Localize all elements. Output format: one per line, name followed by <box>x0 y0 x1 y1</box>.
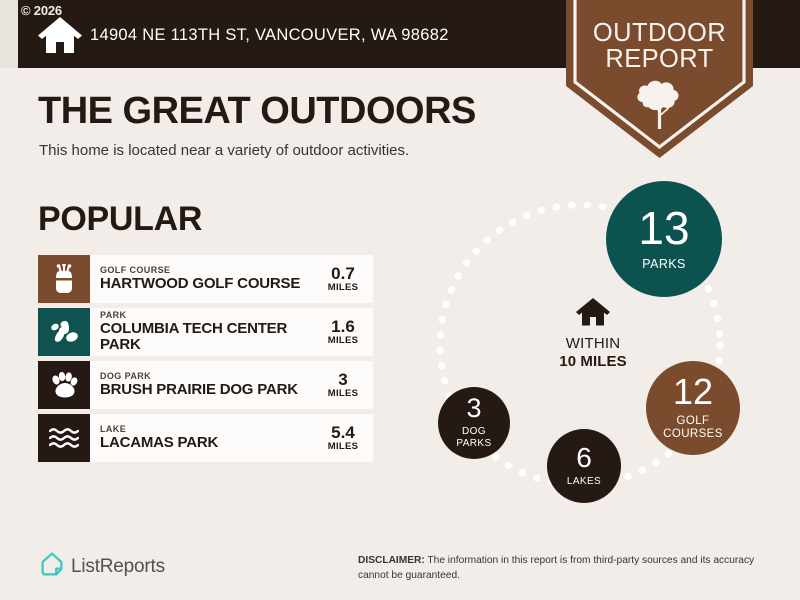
listreports-house-icon <box>40 551 64 582</box>
list-item-category: GOLF COURSE <box>100 266 321 275</box>
distance-value: 1.6 <box>321 318 365 335</box>
parks-label: PARKS <box>642 258 685 271</box>
house-icon <box>38 17 82 55</box>
house-icon <box>528 298 658 332</box>
list-item-distance: 0.7 MILES <box>321 265 373 293</box>
center-line-2: 10 MILES <box>528 353 658 370</box>
list-item-body: PARK COLUMBIA TECH CENTER PARK 1.6 MILES <box>90 308 373 356</box>
list-item-text: DOG PARK BRUSH PRAIRIE DOG PARK <box>100 372 321 398</box>
list-item-text: GOLF COURSE HARTWOOD GOLF COURSE <box>100 266 321 292</box>
outdoor-report-page: © 2026 14904 NE 113TH ST, VANCOUVER, WA … <box>0 0 800 600</box>
list-item-body: LAKE LACAMAS PARK 5.4 MILES <box>90 414 373 462</box>
within-10-miles-diagram: 13 PARKS 12 GOLF COURSES 3 DOG PARKS 6 L… <box>410 165 800 515</box>
list-item-category: DOG PARK <box>100 372 321 381</box>
badge-line-2: REPORT <box>605 45 713 73</box>
center-line-1: WITHIN <box>528 335 658 352</box>
golf-label-line-2: COURSES <box>663 428 723 440</box>
distance-value: 5.4 <box>321 424 365 441</box>
parks-count: 13 <box>638 205 689 251</box>
list-item[interactable]: GOLF COURSE HARTWOOD GOLF COURSE 0.7 MIL… <box>38 255 373 303</box>
list-item[interactable]: DOG PARK BRUSH PRAIRIE DOG PARK 3 MILES <box>38 361 373 409</box>
lakes-label: LAKES <box>567 477 601 487</box>
distance-value: 0.7 <box>321 265 365 282</box>
copyright-label: © 2026 <box>21 3 62 18</box>
badge-line-1: OUTDOOR <box>593 19 726 47</box>
golf-bag-icon <box>38 255 90 303</box>
dog-label-line-1: DOG <box>462 426 486 437</box>
list-item-distance: 5.4 MILES <box>321 424 373 452</box>
list-item-category: PARK <box>100 311 321 320</box>
listreports-logo[interactable]: ListReports <box>40 551 165 582</box>
golf-label-line-1: GOLF <box>677 415 710 427</box>
list-item-name: COLUMBIA TECH CENTER PARK <box>100 321 321 353</box>
stat-bubble-dog-parks[interactable]: 3 DOG PARKS <box>438 387 510 459</box>
list-item-category: LAKE <box>100 425 321 434</box>
golf-courses-label: GOLF COURSES <box>663 415 723 441</box>
distance-unit: MILES <box>321 389 365 399</box>
header-left-edge <box>0 0 18 68</box>
outdoor-report-badge: OUTDOOR REPORT <box>566 0 753 158</box>
disclaimer-label: DISCLAIMER: <box>358 555 425 566</box>
list-item-distance: 1.6 MILES <box>321 318 373 346</box>
distance-unit: MILES <box>321 442 365 452</box>
disclaimer: DISCLAIMER: The information in this repo… <box>358 554 778 584</box>
list-item-text: LAKE LACAMAS PARK <box>100 425 321 451</box>
list-item-name: BRUSH PRAIRIE DOG PARK <box>100 382 321 398</box>
diagram-center-label: WITHIN 10 MILES <box>528 298 658 370</box>
distance-unit: MILES <box>321 336 365 346</box>
property-address: 14904 NE 113TH ST, VANCOUVER, WA 98682 <box>90 26 449 45</box>
park-tree-icon <box>38 308 90 356</box>
distance-value: 3 <box>321 371 365 388</box>
page-title: THE GREAT OUTDOORS <box>38 90 476 133</box>
dog-parks-count: 3 <box>466 395 481 422</box>
page-subtitle: This home is located near a variety of o… <box>39 142 409 159</box>
list-item-name: HARTWOOD GOLF COURSE <box>100 276 321 292</box>
stat-bubble-golf-courses[interactable]: 12 GOLF COURSES <box>646 361 740 455</box>
dog-parks-label: DOG PARKS <box>456 426 491 450</box>
golf-courses-count: 12 <box>673 374 713 410</box>
paw-print-icon <box>38 361 90 409</box>
list-item-body: GOLF COURSE HARTWOOD GOLF COURSE 0.7 MIL… <box>90 255 373 303</box>
distance-unit: MILES <box>321 283 365 293</box>
list-item-text: PARK COLUMBIA TECH CENTER PARK <box>100 311 321 353</box>
list-item-body: DOG PARK BRUSH PRAIRIE DOG PARK 3 MILES <box>90 361 373 409</box>
water-waves-icon <box>38 414 90 462</box>
popular-heading: POPULAR <box>38 200 202 239</box>
stat-bubble-lakes[interactable]: 6 LAKES <box>547 429 621 503</box>
lakes-count: 6 <box>576 444 592 472</box>
list-item-distance: 3 MILES <box>321 371 373 399</box>
list-item[interactable]: PARK COLUMBIA TECH CENTER PARK 1.6 MILES <box>38 308 373 356</box>
popular-list: GOLF COURSE HARTWOOD GOLF COURSE 0.7 MIL… <box>38 255 373 467</box>
stat-bubble-parks[interactable]: 13 PARKS <box>606 181 722 297</box>
list-item[interactable]: LAKE LACAMAS PARK 5.4 MILES <box>38 414 373 462</box>
list-item-name: LACAMAS PARK <box>100 435 321 451</box>
listreports-logo-text: ListReports <box>71 556 165 578</box>
dog-label-line-2: PARKS <box>456 438 491 449</box>
